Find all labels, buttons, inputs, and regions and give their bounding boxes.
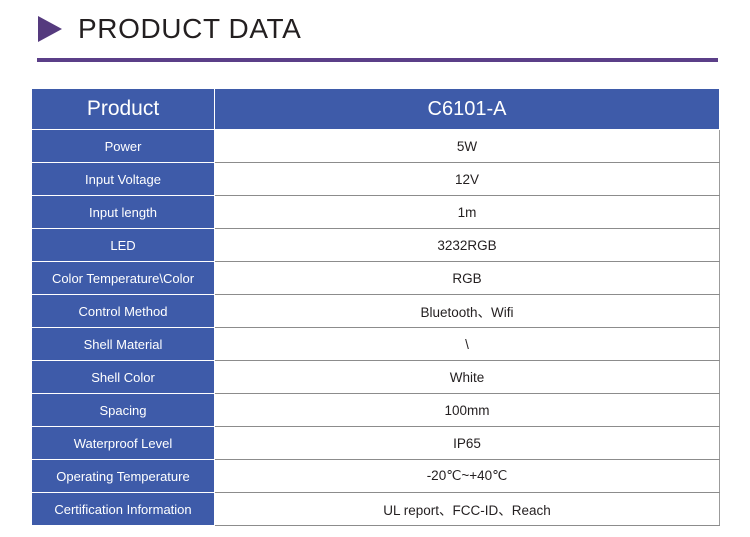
row-value: IP65 [215,427,720,460]
title-divider [37,58,718,62]
row-value: 12V [215,163,720,196]
row-value: 5W [215,130,720,163]
row-value: \ [215,328,720,361]
product-specification-table: Product C6101-A Power5WInput Voltage12VI… [31,88,720,526]
table-row: Waterproof LevelIP65 [32,427,720,460]
row-label: Waterproof Level [32,427,215,460]
row-value: White [215,361,720,394]
table-row: Input Voltage12V [32,163,720,196]
row-label: Power [32,130,215,163]
row-value: 3232RGB [215,229,720,262]
row-value: UL report、FCC-ID、Reach [215,493,720,526]
triangle-bullet-icon [38,16,62,42]
row-label: Operating Temperature [32,460,215,493]
table-row: Certification InformationUL report、FCC-I… [32,493,720,526]
table-row: Input length1m [32,196,720,229]
row-value: 100mm [215,394,720,427]
row-value: 1m [215,196,720,229]
row-value: -20℃~+40℃ [215,460,720,493]
row-value: Bluetooth、Wifi [215,295,720,328]
table-row: Power5W [32,130,720,163]
row-label: LED [32,229,215,262]
table-header-row: Product C6101-A [32,89,720,130]
table-row: Color Temperature\ColorRGB [32,262,720,295]
row-label: Control Method [32,295,215,328]
page-header: PRODUCT DATA [0,0,750,70]
table-row: Shell Material\ [32,328,720,361]
row-label: Shell Color [32,361,215,394]
table-row: Control MethodBluetooth、Wifi [32,295,720,328]
row-label: Certification Information [32,493,215,526]
table-row: Operating Temperature-20℃~+40℃ [32,460,720,493]
row-label: Color Temperature\Color [32,262,215,295]
row-label: Shell Material [32,328,215,361]
row-value: RGB [215,262,720,295]
table-row: Shell ColorWhite [32,361,720,394]
table-row: LED3232RGB [32,229,720,262]
page-title: PRODUCT DATA [78,11,301,47]
row-label: Input length [32,196,215,229]
row-label: Input Voltage [32,163,215,196]
table-row: Spacing100mm [32,394,720,427]
header-cell-product: Product [32,89,215,130]
row-label: Spacing [32,394,215,427]
header-cell-model: C6101-A [215,89,720,130]
